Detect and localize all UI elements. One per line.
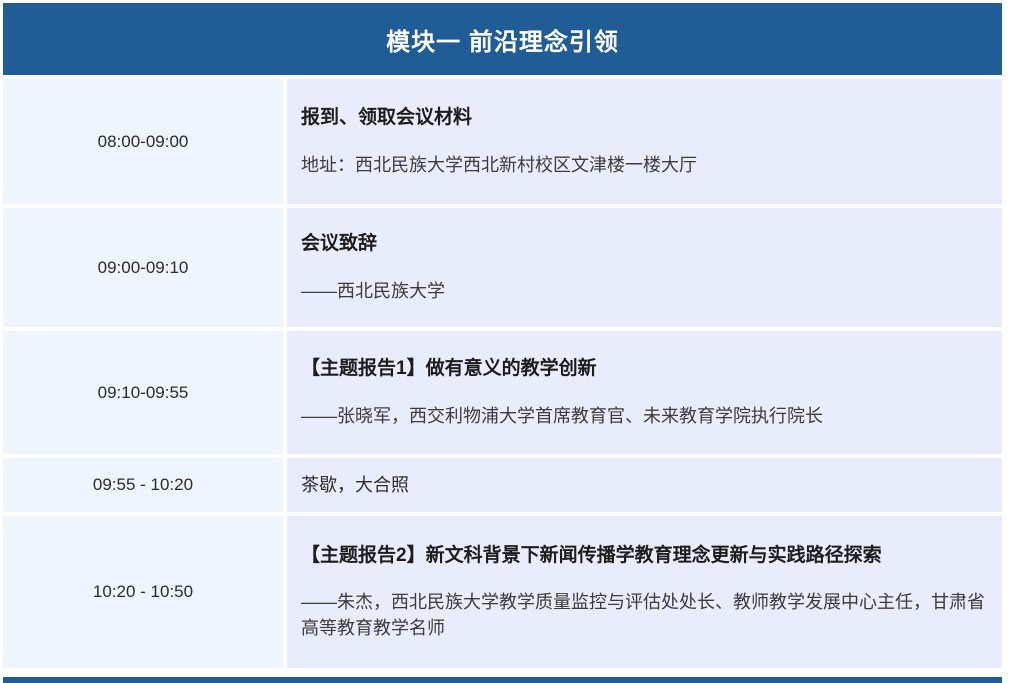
bottom-rule (3, 677, 1002, 683)
table-row: 10:20 - 10:50 【主题报告2】新文科背景下新闻传播学教育理念更新与实… (3, 516, 1002, 668)
row-title: 茶歇，大合照 (301, 473, 986, 497)
row-time-cell: 09:55 - 10:20 (3, 458, 283, 512)
row-time-cell: 09:10-09:55 (3, 331, 283, 454)
row-detail-cell: 报到、领取会议材料 地址：西北民族大学西北新村校区文津楼一楼大厅 (287, 79, 1002, 204)
row-detail-cell: 【主题报告1】做有意义的教学创新 ——张晓军，西交利物浦大学首席教育官、未来教育… (287, 331, 1002, 454)
row-time: 09:00-09:10 (98, 258, 189, 278)
module-header-title: 模块一 前沿理念引领 (386, 22, 619, 57)
row-time-cell: 09:00-09:10 (3, 208, 283, 327)
row-time: 09:10-09:55 (98, 383, 189, 403)
row-time: 09:55 - 10:20 (93, 475, 193, 495)
row-title: 会议致辞 (301, 231, 986, 257)
row-detail-cell: 会议致辞 ——西北民族大学 (287, 208, 1002, 327)
row-title: 【主题报告1】做有意义的教学创新 (301, 356, 986, 382)
table-row: 09:55 - 10:20 茶歇，大合照 (3, 458, 1002, 512)
row-time: 08:00-09:00 (98, 132, 189, 152)
row-title: 【主题报告2】新文科背景下新闻传播学教育理念更新与实践路径探索 (301, 543, 986, 569)
row-time-cell: 10:20 - 10:50 (3, 516, 283, 668)
table-row: 08:00-09:00 报到、领取会议材料 地址：西北民族大学西北新村校区文津楼… (3, 79, 1002, 204)
row-title: 报到、领取会议材料 (301, 105, 986, 131)
schedule-table: 模块一 前沿理念引领 08:00-09:00 报到、领取会议材料 地址：西北民族… (0, 0, 1011, 683)
row-detail-cell: 茶歇，大合照 (287, 458, 1002, 512)
module-header: 模块一 前沿理念引领 (3, 3, 1002, 75)
table-row: 09:00-09:10 会议致辞 ——西北民族大学 (3, 208, 1002, 327)
row-time: 10:20 - 10:50 (93, 582, 193, 602)
row-subtitle: ——西北民族大学 (301, 278, 986, 304)
table-row: 09:10-09:55 【主题报告1】做有意义的教学创新 ——张晓军，西交利物浦… (3, 331, 1002, 454)
row-subtitle: 地址：西北民族大学西北新村校区文津楼一楼大厅 (301, 152, 986, 178)
row-subtitle: ——张晓军，西交利物浦大学首席教育官、未来教育学院执行院长 (301, 403, 986, 429)
row-subtitle: ——朱杰，西北民族大学教学质量监控与评估处处长、教师教学发展中心主任，甘肃省高等… (301, 589, 986, 641)
row-detail-cell: 【主题报告2】新文科背景下新闻传播学教育理念更新与实践路径探索 ——朱杰，西北民… (287, 516, 1002, 668)
schedule-rows: 08:00-09:00 报到、领取会议材料 地址：西北民族大学西北新村校区文津楼… (3, 79, 1002, 668)
row-time-cell: 08:00-09:00 (3, 79, 283, 204)
